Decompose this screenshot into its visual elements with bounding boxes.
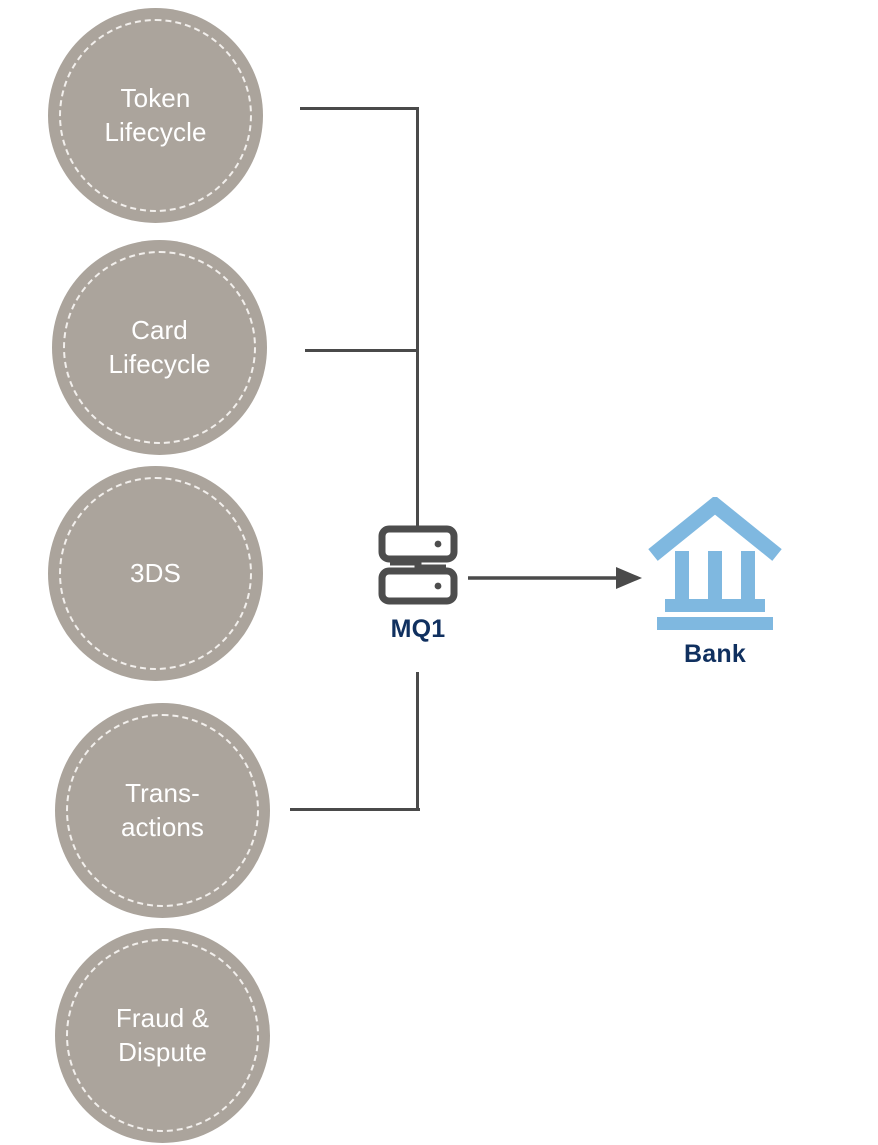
source-node-label: Token Lifecycle <box>90 82 220 149</box>
source-node-card-lifecycle[interactable]: Card Lifecycle <box>52 240 267 455</box>
destination-node-label: Bank <box>637 640 793 669</box>
source-node-transactions[interactable]: Trans- actions <box>55 703 270 918</box>
source-node-label: Fraud & Dispute <box>102 1002 223 1069</box>
source-node-label: 3DS <box>116 557 195 590</box>
diagram-canvas: Token Lifecycle Card Lifecycle 3DS Trans… <box>0 0 878 1145</box>
source-node-fraud-dispute[interactable]: Fraud & Dispute <box>55 928 270 1143</box>
flow-arrow-mq1-to-bank <box>468 562 643 594</box>
connector-card-lifecycle-to-bus <box>305 349 419 352</box>
source-node-label: Card Lifecycle <box>94 314 224 381</box>
destination-node-bank[interactable]: Bank <box>637 497 793 669</box>
bank-building-icon <box>637 497 793 635</box>
server-stack-icon <box>368 524 468 611</box>
connector-transactions-to-bus <box>290 808 420 811</box>
connector-bus-vertical-lower <box>416 672 419 811</box>
middleware-node-mq1[interactable]: MQ1 <box>368 524 468 644</box>
connector-token-lifecycle-to-bus <box>300 107 419 110</box>
source-node-3ds[interactable]: 3DS <box>48 466 263 681</box>
middleware-node-label: MQ1 <box>368 615 468 644</box>
connector-bus-vertical-upper <box>416 107 419 532</box>
source-node-label: Trans- actions <box>107 777 218 844</box>
source-node-token-lifecycle[interactable]: Token Lifecycle <box>48 8 263 223</box>
